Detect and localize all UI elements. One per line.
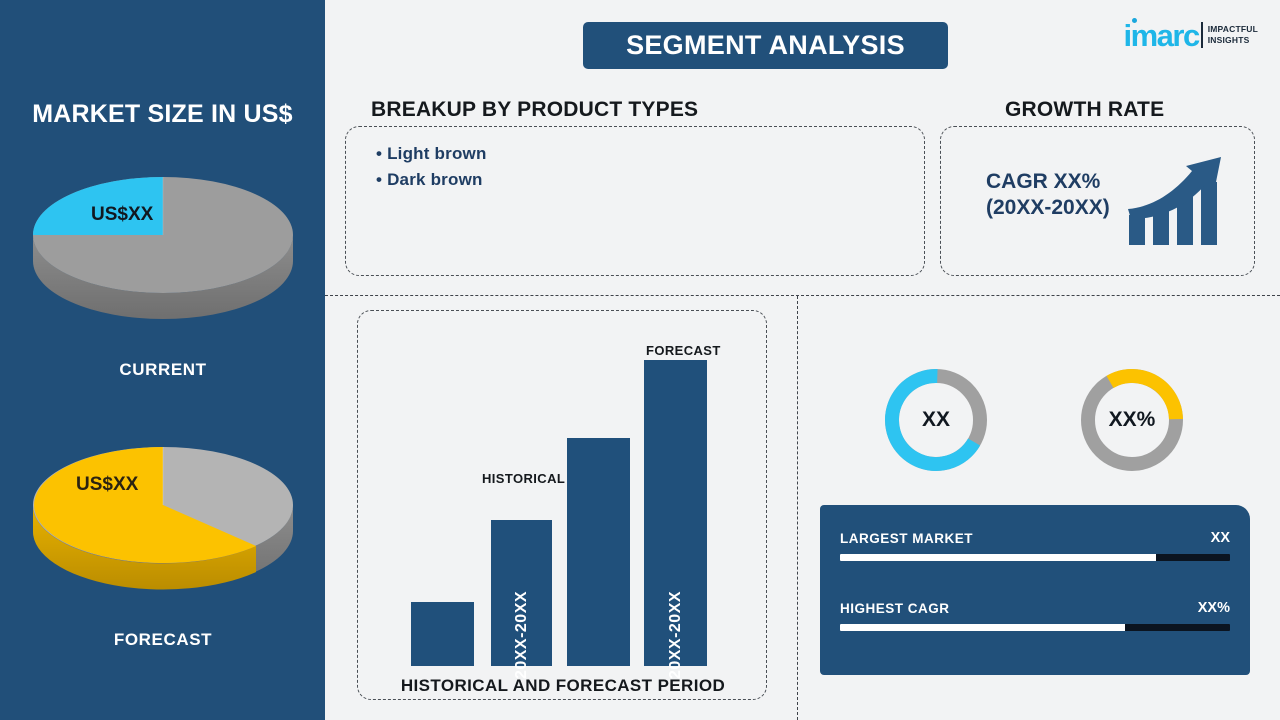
largest-market-stat: LARGEST MARKET XX — [840, 530, 1230, 561]
highest-cagr-progress-track — [840, 624, 1230, 631]
largest-market-donut-value: XX — [922, 408, 950, 432]
forecast-range-label: 20XX-20XX — [667, 591, 685, 679]
bar-item: 20XX-20XX — [644, 360, 707, 666]
highest-cagr-donut-center: XX% — [1096, 384, 1168, 456]
segment-analysis-banner: SEGMENT ANALYSIS — [583, 22, 948, 69]
bar-item: 20XX-20XX — [491, 520, 552, 666]
historical-bar-label: HISTORICAL — [482, 471, 565, 486]
historical-range-label: 20XX-20XX — [513, 591, 531, 679]
forecast-pie-caption: FORECAST — [28, 630, 298, 650]
breakup-item-label: Light brown — [387, 144, 486, 163]
highest-cagr-donut-value: XX% — [1109, 408, 1156, 432]
market-size-sidebar: MARKET SIZE IN US$ US$XX CURRENT — [0, 0, 325, 720]
sidebar-title: MARKET SIZE IN US$ — [0, 100, 325, 129]
cagr-text: CAGR XX% (20XX-20XX) — [986, 169, 1110, 220]
vertical-divider — [797, 296, 798, 720]
highest-cagr-value: XX% — [1198, 600, 1230, 616]
highest-cagr-donut: XX% — [1080, 368, 1184, 472]
logo-tagline-line1: IMPACTFUL — [1208, 24, 1258, 35]
breakup-heading: BREAKUP BY PRODUCT TYPES — [371, 98, 698, 122]
forecast-bar-label: FORECAST — [646, 343, 721, 358]
cagr-line-2: (20XX-20XX) — [986, 195, 1110, 221]
largest-market-donut: XX — [884, 368, 988, 472]
market-stats-card: LARGEST MARKET XX HIGHEST CAGR XX% — [820, 505, 1250, 675]
current-pie-caption: CURRENT — [28, 360, 298, 380]
largest-market-progress-fill — [840, 554, 1156, 561]
logo-tagline: IMPACTFUL INSIGHTS — [1208, 24, 1258, 45]
banner-title: SEGMENT ANALYSIS — [626, 30, 905, 61]
bar-item — [567, 438, 630, 666]
logo-tagline-line2: INSIGHTS — [1208, 35, 1258, 46]
highest-cagr-progress-fill — [840, 624, 1125, 631]
breakup-item-label: Dark brown — [387, 170, 483, 189]
growth-arrow-bars-icon — [1126, 153, 1226, 248]
breakup-box: • Light brown • Dark brown — [345, 126, 925, 276]
largest-market-label: LARGEST MARKET — [840, 531, 973, 546]
period-axis-label: HISTORICAL AND FORECAST PERIOD — [358, 676, 768, 696]
forecast-pie-svg — [28, 430, 298, 590]
growth-rate-heading: GROWTH RATE — [1005, 98, 1164, 122]
highest-cagr-label: HIGHEST CAGR — [840, 601, 950, 616]
historical-forecast-panel: HISTORICAL 20XX-20XX FORECAST 20XX-20XX … — [357, 310, 767, 700]
list-item: • Light brown — [376, 144, 487, 164]
highest-cagr-stat: HIGHEST CAGR XX% — [840, 600, 1230, 631]
period-bar-chart: HISTORICAL 20XX-20XX FORECAST 20XX-20XX … — [358, 311, 768, 701]
largest-market-value: XX — [1211, 530, 1230, 546]
largest-market-donut-center: XX — [900, 384, 972, 456]
logo-divider — [1201, 22, 1203, 48]
bar-item — [411, 602, 474, 666]
breakup-list: • Light brown • Dark brown — [376, 144, 487, 196]
list-item: • Dark brown — [376, 170, 487, 190]
imarc-logo: imarc IMPACTFUL INSIGHTS — [1123, 14, 1258, 56]
horizontal-divider — [325, 295, 1280, 296]
growth-rate-box: CAGR XX% (20XX-20XX) — [940, 126, 1255, 276]
largest-market-progress-track — [840, 554, 1230, 561]
current-pie-svg — [28, 160, 298, 320]
cagr-line-1: CAGR XX% — [986, 169, 1110, 195]
logo-wordmark: imarc — [1123, 18, 1198, 53]
